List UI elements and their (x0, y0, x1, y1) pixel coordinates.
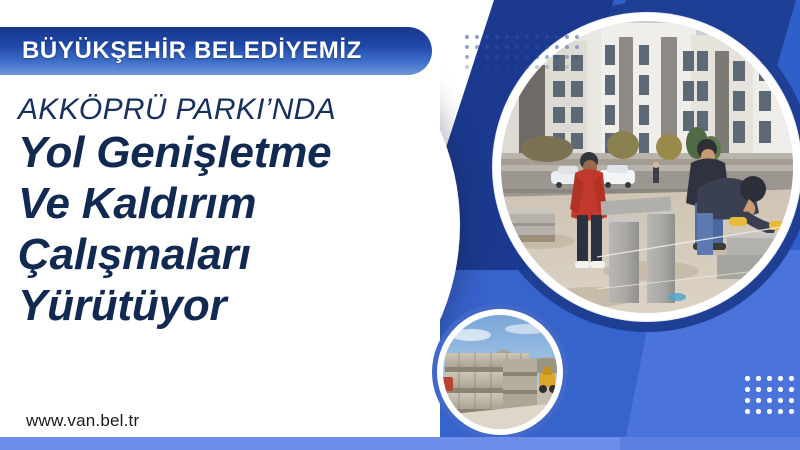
dot (525, 45, 529, 49)
dot (565, 65, 569, 69)
dot (555, 35, 559, 39)
dot (575, 55, 579, 59)
dot (745, 387, 750, 392)
dot (575, 35, 579, 39)
secondary-photo-frame (432, 304, 568, 440)
dot (756, 387, 761, 392)
dot (475, 65, 479, 69)
dot (565, 55, 569, 59)
dot (505, 35, 509, 39)
dot (565, 35, 569, 39)
dot (789, 398, 794, 403)
dot (465, 45, 469, 49)
dot (545, 55, 549, 59)
stacked-paving-stones-photo (443, 315, 557, 429)
secondary-photo (443, 315, 557, 429)
dot (485, 55, 489, 59)
headline-block: AKKÖPRÜ PARKI’NDA Yol Genişletme Ve Kald… (18, 92, 448, 332)
headline-line-1: Yol Genişletme (18, 127, 448, 178)
dot (778, 398, 783, 403)
dot (475, 45, 479, 49)
dot (495, 55, 499, 59)
dot (575, 45, 579, 49)
dot (475, 35, 479, 39)
dot (485, 65, 489, 69)
dot (789, 387, 794, 392)
dot (465, 65, 469, 69)
dot-grid-white (742, 373, 800, 417)
dot (485, 35, 489, 39)
dot (515, 35, 519, 39)
dot (535, 45, 539, 49)
banner-canvas: BÜYÜKŞEHİR BELEDİYEMİZ AKKÖPRÜ PARKI’NDA… (0, 0, 800, 450)
dot (767, 398, 772, 403)
dot (545, 65, 549, 69)
dot-grid-navy (462, 32, 582, 72)
dot (495, 65, 499, 69)
dot (535, 55, 539, 59)
dot (767, 409, 772, 414)
dot (745, 409, 750, 414)
dot (545, 45, 549, 49)
dot (535, 65, 539, 69)
dot (756, 376, 761, 381)
dot (767, 376, 772, 381)
dot (789, 409, 794, 414)
dot (525, 65, 529, 69)
dot (767, 387, 772, 392)
dot (778, 376, 783, 381)
dot (745, 398, 750, 403)
dot (485, 45, 489, 49)
dot (778, 387, 783, 392)
dot (465, 55, 469, 59)
headline-line-3: Çalışmaları (18, 229, 448, 280)
dot (555, 55, 559, 59)
dot (465, 35, 469, 39)
dot (475, 55, 479, 59)
dot (555, 45, 559, 49)
headline-kicker: AKKÖPRÜ PARKI’NDA (18, 92, 448, 127)
dot (545, 35, 549, 39)
dot (515, 65, 519, 69)
dot (745, 376, 750, 381)
municipality-badge: BÜYÜKŞEHİR BELEDİYEMİZ (0, 27, 432, 75)
dot (555, 65, 559, 69)
municipality-badge-label: BÜYÜKŞEHİR BELEDİYEMİZ (0, 37, 362, 65)
dot (756, 398, 761, 403)
dot (535, 35, 539, 39)
dot (505, 55, 509, 59)
dot (495, 45, 499, 49)
dot (505, 65, 509, 69)
dot (778, 409, 783, 414)
dot (565, 45, 569, 49)
dot (525, 35, 529, 39)
dot (505, 45, 509, 49)
dot (515, 45, 519, 49)
dot (495, 35, 499, 39)
dot (575, 65, 579, 69)
dot (515, 55, 519, 59)
website-url[interactable]: www.van.bel.tr (26, 411, 139, 431)
dot (756, 409, 761, 414)
dot (789, 376, 794, 381)
headline-line-4: Yürütüyor (18, 280, 448, 331)
bottom-accent-bar-right (620, 437, 800, 450)
dot (525, 55, 529, 59)
headline-line-2: Ve Kaldırım (18, 178, 448, 229)
